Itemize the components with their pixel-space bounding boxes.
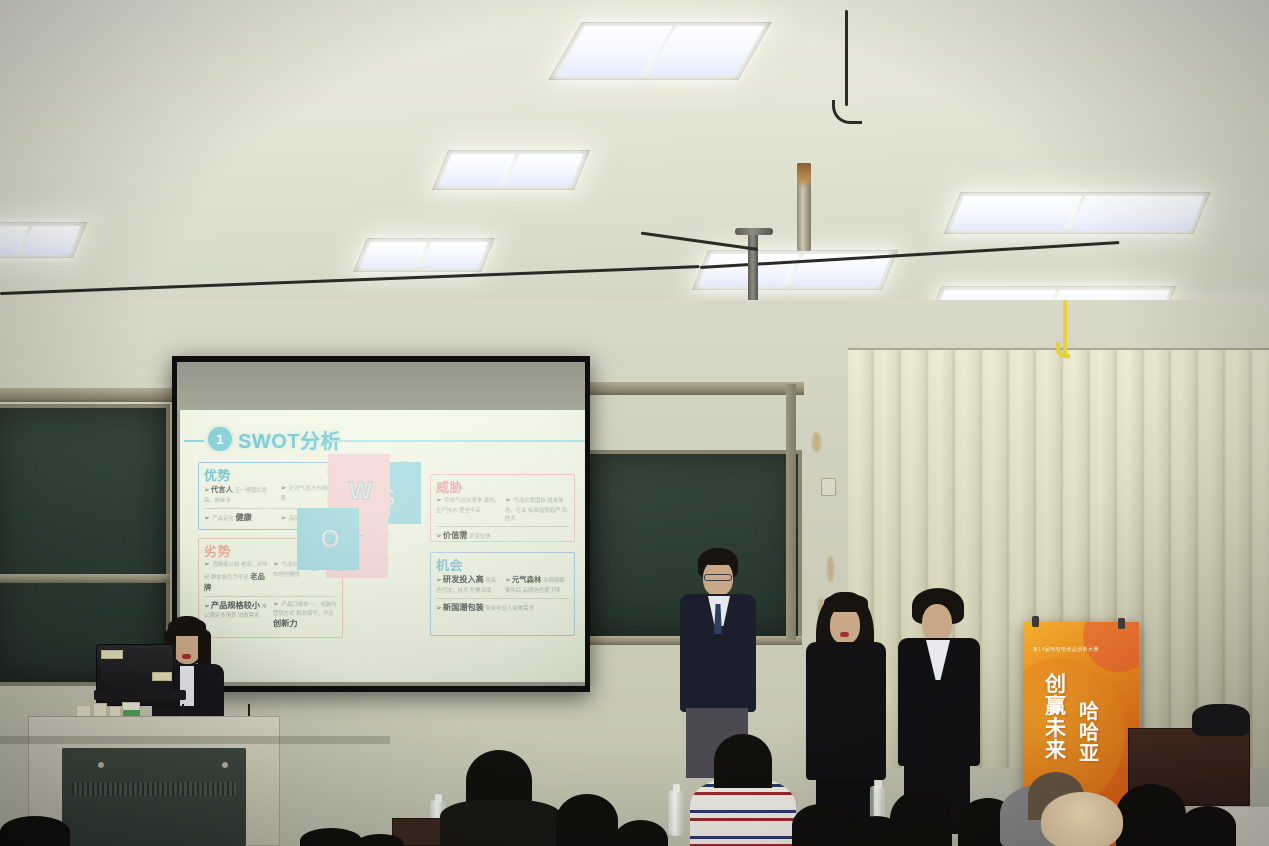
blind-cord[interactable] bbox=[1063, 300, 1067, 356]
bullet-arrow-icon: ➢ bbox=[505, 577, 511, 584]
weaknesses-divider bbox=[204, 596, 337, 597]
banner-clip-left bbox=[1032, 616, 1039, 627]
audience-head-11 bbox=[1180, 806, 1236, 846]
strengths-item-3: ➢ 产品定位 健康 bbox=[204, 512, 276, 525]
banner-clip-right bbox=[1118, 618, 1125, 629]
ceiling-light-1 bbox=[0, 222, 87, 258]
podium-vent bbox=[72, 782, 236, 796]
strengths-item-3-keyword: 健康 bbox=[235, 513, 251, 522]
podium-screw-right bbox=[222, 762, 228, 768]
header-rule-left bbox=[184, 440, 204, 442]
threats-item-2: ➢ 气泡水类国标 尚未落地，行业 标准监管趋严 风险大 bbox=[505, 496, 569, 523]
swot-slide: 1 SWOT分析 优势 ➢代言人 王一博国民度 高，粉丝多 bbox=[180, 410, 585, 682]
bullet-arrow-icon: ➢ bbox=[273, 561, 279, 568]
podium-front-panel bbox=[62, 748, 246, 846]
audience-head-7 bbox=[890, 790, 952, 846]
screen-blank-area bbox=[177, 362, 585, 410]
threats-divider bbox=[436, 526, 569, 527]
water-bottle-2[interactable] bbox=[668, 790, 683, 836]
bullet-arrow-icon: ➢ bbox=[204, 515, 210, 522]
opportunities-item-2-keyword: 元气森林 bbox=[512, 575, 542, 584]
light-switch bbox=[821, 478, 836, 496]
banner-subtitle: 第14届哈哈哈食品创新大赛 bbox=[1033, 646, 1133, 653]
ceiling-light-2 bbox=[353, 238, 495, 272]
audience-striped-shirt bbox=[690, 778, 796, 846]
opportunities-item-2: ➢元气森林 赤藓糖醇事件后 品牌信任度下降 bbox=[505, 574, 569, 595]
threats-item-3-detail: 求变化快 bbox=[469, 534, 491, 540]
audience-head-4 bbox=[714, 734, 772, 788]
weaknesses-row-2: ➢产品规格较小 难以满足多场景 消费需求 ➢ 产品口味单一， 包装与营销方式 相… bbox=[204, 600, 337, 631]
bullet-arrow-icon: ➢ bbox=[281, 485, 287, 492]
weaknesses-item-4-keyword: 创新力 bbox=[273, 619, 298, 628]
banner-side-text: 哈哈亚 bbox=[1079, 702, 1105, 765]
opportunities-divider bbox=[436, 598, 569, 599]
student-2-coat bbox=[806, 642, 886, 780]
bullet-arrow-icon: ➢ bbox=[204, 603, 210, 610]
audience-head-5 bbox=[792, 804, 850, 846]
threats-item-3: ➢价值需 求变化快 bbox=[436, 530, 569, 543]
threats-heading: 威胁 bbox=[436, 477, 569, 496]
weaknesses-item-4-detail: 产品口味单一， 包装与营销方式 相对保守，不足 bbox=[273, 602, 337, 618]
podium-screw-left bbox=[98, 762, 104, 768]
threats-body: 威胁 ➢ 同类气泡水竞争 激烈，生产技术 壁垒不高 ➢ 气泡水类国标 尚未落地，… bbox=[431, 475, 574, 542]
bullet-arrow-icon: ➢ bbox=[273, 601, 279, 608]
wall-stain-1 bbox=[812, 432, 821, 452]
slide-title: SWOT分析 bbox=[238, 425, 341, 454]
weaknesses-item-1: ➢ 消费者认知 老旧，对年轻 群体吸引力不足 老品牌 bbox=[204, 560, 268, 593]
swot-clover-graphic: S W T O bbox=[330, 462, 450, 640]
bullet-arrow-icon: ➢ bbox=[204, 487, 210, 494]
bullet-arrow-icon: ➢ bbox=[281, 515, 287, 522]
monitor-asset-label-1 bbox=[101, 650, 123, 659]
slide-section-number: 1 bbox=[208, 427, 232, 451]
opportunities-heading: 机会 bbox=[436, 555, 569, 574]
quadrant-opportunities: 机会 ➢研发投入高 新品迭代快，技术 积累深厚 ➢元气森林 赤藓糖醇事件后 品牌… bbox=[430, 552, 575, 636]
student-1-glasses bbox=[704, 574, 732, 581]
opportunities-row-1: ➢研发投入高 新品迭代快，技术 积累深厚 ➢元气森林 赤藓糖醇事件后 品牌信任度… bbox=[436, 574, 569, 595]
strengths-item-3-detail: 产品定位 bbox=[212, 516, 234, 522]
student-3-face bbox=[922, 604, 952, 642]
strengths-item-1-keyword: 代言人 bbox=[211, 485, 233, 494]
audience-head-2 bbox=[556, 794, 618, 846]
banner-main-text: 创赢未来 bbox=[1045, 674, 1071, 762]
projection-screen: 1 SWOT分析 优势 ➢代言人 王一博国民度 高，粉丝多 bbox=[172, 356, 590, 692]
bullet-arrow-icon: ➢ bbox=[204, 561, 210, 568]
presenter-shirt bbox=[180, 666, 194, 706]
threats-row-1: ➢ 同类气泡水竞争 激烈，生产技术 壁垒不高 ➢ 气泡水类国标 尚未落地，行业 … bbox=[436, 496, 569, 523]
wall-ledge-left bbox=[0, 388, 175, 402]
chalkboard-frame-post bbox=[786, 384, 796, 640]
audience-bag bbox=[1192, 704, 1250, 736]
bullet-arrow-icon: ➢ bbox=[505, 497, 511, 504]
audience-hat bbox=[1041, 792, 1123, 846]
monitor-asset-label-2 bbox=[152, 672, 172, 681]
weaknesses-item-4: ➢ 产品口味单一， 包装与营销方式 相对保守，不足 创新力 bbox=[273, 600, 337, 631]
ceiling-pipe bbox=[797, 163, 811, 251]
screen-surface: 1 SWOT分析 优势 ➢代言人 王一博国民度 高，粉丝多 bbox=[177, 362, 585, 686]
projector-power-cable bbox=[845, 10, 848, 106]
wall-base-shadow bbox=[0, 736, 390, 744]
strengths-item-1: ➢代言人 王一博国民度 高，粉丝多 bbox=[204, 484, 276, 505]
ceiling-light-6 bbox=[944, 192, 1211, 234]
opportunities-body: 机会 ➢研发投入高 新品迭代快，技术 积累深厚 ➢元气森林 赤藓糖醇事件后 品牌… bbox=[431, 553, 574, 614]
student-2-fringe bbox=[824, 594, 868, 612]
slide-header: 1 SWOT分析 bbox=[180, 424, 585, 454]
clover-letter-o: O bbox=[321, 525, 340, 554]
wall-ledge-center bbox=[576, 382, 804, 395]
threats-row-2: ➢价值需 求变化快 bbox=[436, 530, 569, 543]
opportunities-item-3: ➢新国潮包装 契合年轻人审美需求 bbox=[436, 602, 569, 615]
ceiling-light-3 bbox=[432, 150, 590, 190]
threats-item-2-detail: 气泡水类国标 尚未落地，行业 标准监管趋严 风险大 bbox=[505, 498, 567, 522]
chalk-rail-left bbox=[0, 574, 170, 583]
opportunities-item-3-detail: 契合年轻人审美需求 bbox=[485, 606, 534, 612]
audience-head-10 bbox=[1116, 784, 1186, 846]
podium-keyboard-tray bbox=[94, 690, 186, 700]
weaknesses-item-3-keyword: 产品规格较小 bbox=[211, 601, 260, 610]
weaknesses-item-3: ➢产品规格较小 难以满足多场景 消费需求 bbox=[204, 600, 268, 631]
audience-body-1 bbox=[440, 800, 562, 846]
quadrant-threats: 威胁 ➢ 同类气泡水竞争 激烈，生产技术 壁垒不高 ➢ 气泡水类国标 尚未落地，… bbox=[430, 474, 575, 542]
header-rule-right bbox=[330, 440, 585, 442]
projector-mount-plate bbox=[735, 228, 773, 235]
student-1-fringe bbox=[700, 550, 736, 565]
opportunities-row-2: ➢新国潮包装 契合年轻人审美需求 bbox=[436, 602, 569, 615]
clover-letter-w: W bbox=[349, 478, 373, 507]
wall-stain-2 bbox=[827, 556, 834, 582]
audience-head-12 bbox=[0, 816, 70, 846]
classroom-presentation-photo: 1 SWOT分析 优势 ➢代言人 王一博国民度 高，粉丝多 bbox=[0, 0, 1269, 846]
presenter-lips bbox=[182, 654, 191, 659]
ceiling-light-4 bbox=[548, 22, 771, 80]
student-2-lips bbox=[840, 632, 849, 637]
